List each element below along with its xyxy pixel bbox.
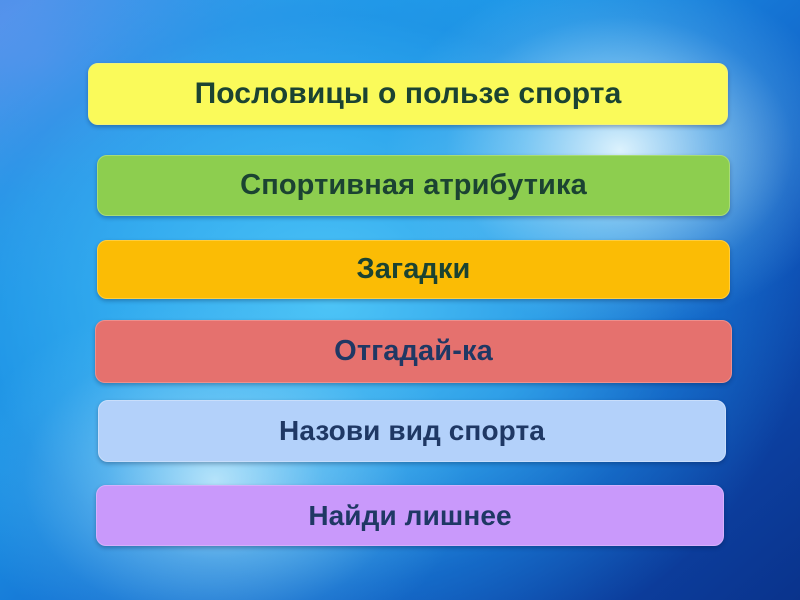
menu-button-list: Пословицы о пользе спорта Спортивная атр… [0,0,800,600]
menu-button-riddles[interactable]: Загадки [97,240,730,299]
menu-button-proverbs[interactable]: Пословицы о пользе спорта [88,63,728,125]
menu-button-find-the-odd-one[interactable]: Найди лишнее [96,485,724,546]
menu-button-label: Пословицы о пользе спорта [195,79,622,109]
slide-canvas: Пословицы о пользе спорта Спортивная атр… [0,0,800,600]
menu-button-sports-attributes[interactable]: Спортивная атрибутика [97,155,730,216]
menu-button-label: Найди лишнее [308,502,511,530]
menu-button-name-the-sport[interactable]: Назови вид спорта [98,400,726,462]
menu-button-label: Загадки [357,255,471,284]
menu-button-label: Отгадай-ка [334,337,493,366]
menu-button-label: Назови вид спорта [279,417,545,445]
menu-button-label: Спортивная атрибутика [240,171,587,200]
menu-button-guess-it[interactable]: Отгадай-ка [95,320,732,383]
